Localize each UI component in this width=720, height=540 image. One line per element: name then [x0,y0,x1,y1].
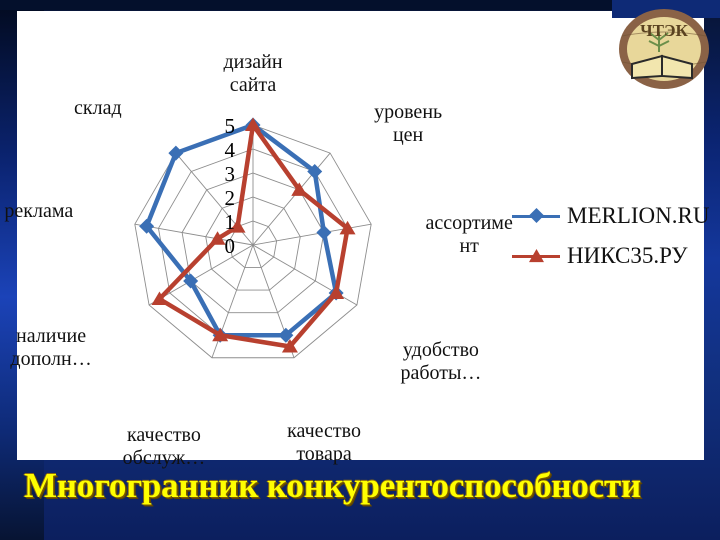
radar-point-1-8 [168,146,183,161]
radar-series-2-line [159,125,347,346]
logo-text: ЧТЭК [640,21,688,40]
slide-root: ЧТЭК 012345 дизайн сайтауровень ценассор… [0,0,720,540]
radar-tick-0: 0 [225,234,236,258]
chtek-emblem-logo: ЧТЭК [616,6,712,92]
radar-category-label-7: реклама [0,200,94,223]
legend-label-merlion: MERLION.RU [567,203,709,229]
radar-category-label-8: склад [48,97,148,120]
radar-chart: 012345 дизайн сайтауровень ценассортиме … [17,11,537,411]
radar-tick-labels: 012345 [225,114,236,258]
radar-category-label-0: дизайн сайта [198,51,308,97]
radar-tick-4: 4 [225,138,236,162]
chart-legend: MERLION.RU НИКС35.РУ [512,196,712,276]
radar-tick-3: 3 [225,162,236,186]
radar-series [139,118,355,353]
radar-category-label-6: наличие дополн… [0,325,116,371]
radar-point-1-2 [316,225,331,240]
radar-category-label-3: удобство работы… [381,339,501,385]
legend-marker-triangle-icon [512,246,560,266]
radar-category-label-1: уровень цен [353,101,463,147]
radar-category-label-4: качество товара [264,420,384,466]
radar-tick-2: 2 [225,186,236,210]
legend-marker-diamond-icon [512,206,560,226]
slide-title-bar: Многогранник конкурентоспособности [0,462,720,540]
radar-tick-1: 1 [225,210,236,234]
radar-tick-5: 5 [225,114,236,138]
slide-title: Многогранник конкурентоспособности [24,466,641,506]
legend-item-niks35[interactable]: НИКС35.РУ [512,236,712,276]
legend-item-merlion[interactable]: MERLION.RU [512,196,712,236]
legend-label-niks35: НИКС35.РУ [567,243,688,269]
